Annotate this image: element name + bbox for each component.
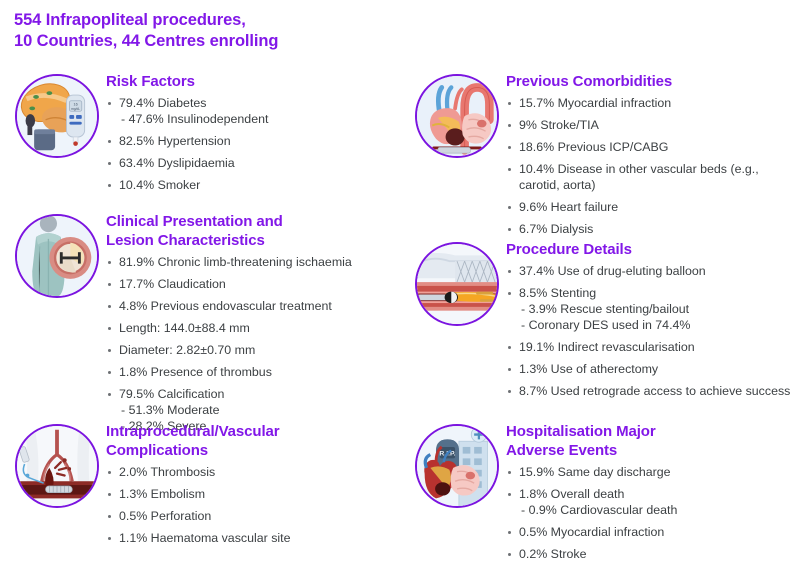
section-heading-line: Risk Factors bbox=[106, 72, 398, 91]
section-bullet-list: 2.0% Thrombosis 1.3% Embolism 0.5% Perfo… bbox=[106, 464, 398, 546]
section-icon-wrapper bbox=[408, 240, 506, 326]
list-item-subtext: - 47.6% Insulinodependent bbox=[119, 111, 398, 127]
list-item: 9.6% Heart failure bbox=[506, 199, 798, 215]
section-risk-factors: 16 mg/dL Risk Factors 79.4% Diabetes - 4… bbox=[8, 72, 398, 199]
section-bullet-list: 81.9% Chronic limb-threatening ischaemia… bbox=[106, 254, 398, 434]
list-item: 81.9% Chronic limb-threatening ischaemia bbox=[106, 254, 398, 270]
section-icon-wrapper bbox=[8, 212, 106, 298]
list-item: 37.4% Use of drug-eluting balloon bbox=[506, 263, 798, 279]
list-item: 79.4% Diabetes - 47.6% Insulinodependent bbox=[106, 95, 398, 127]
list-item-text: 15.7% Myocardial infraction bbox=[519, 96, 671, 110]
section-clinical-presentation: Clinical Presentation and Lesion Charact… bbox=[8, 212, 398, 440]
list-item-text: 9% Stroke/TIA bbox=[519, 118, 599, 132]
hospital-gravestone-heart-brain-icon: R.I.P. bbox=[415, 424, 499, 508]
section-text-column: Risk Factors 79.4% Diabetes - 47.6% Insu… bbox=[106, 72, 398, 199]
vessel-perforation-bleeding-icon bbox=[15, 424, 99, 508]
list-item: 8.5% Stenting - 3.9% Rescue stenting/bai… bbox=[506, 285, 798, 333]
list-item: 1.3% Use of atherectomy bbox=[506, 361, 798, 377]
list-item-subtext: - 51.3% Moderate bbox=[119, 402, 398, 418]
section-heading-line: Intraprocedural/Vascular bbox=[106, 422, 398, 441]
list-item-text: 0.5% Perforation bbox=[119, 509, 211, 523]
section-bullet-list: 15.7% Myocardial infraction 9% Stroke/TI… bbox=[506, 95, 798, 237]
section-heading: Procedure Details bbox=[506, 240, 798, 259]
section-previous-comorbidities: Previous Comorbidities 15.7% Myocardial … bbox=[408, 72, 798, 243]
list-item: 1.3% Embolism bbox=[106, 486, 398, 502]
svg-text:mg/dL: mg/dL bbox=[71, 107, 80, 111]
list-item-text: 1.8% Presence of thrombus bbox=[119, 365, 272, 379]
section-icon-wrapper: R.I.P. bbox=[408, 422, 506, 508]
section-bullet-list: 79.4% Diabetes - 47.6% Insulinodependent… bbox=[106, 95, 398, 193]
section-heading-line: Hospitalisation Major bbox=[506, 422, 798, 441]
section-heading-line: Procedure Details bbox=[506, 240, 798, 259]
list-item: 0.2% Stroke bbox=[506, 546, 798, 562]
list-item-text: 6.7% Dialysis bbox=[519, 222, 593, 236]
section-icon-wrapper: 16 mg/dL bbox=[8, 72, 106, 158]
list-item: 15.9% Same day discharge bbox=[506, 464, 798, 480]
list-item: 82.5% Hypertension bbox=[106, 133, 398, 149]
list-item: Diameter: 2.82±0.70 mm bbox=[106, 342, 398, 358]
section-text-column: Hospitalisation Major Adverse Events 15.… bbox=[506, 422, 798, 568]
list-item: 2.0% Thrombosis bbox=[106, 464, 398, 480]
list-item-subtext: - 0.9% Cardiovascular death bbox=[519, 502, 798, 518]
list-item-text: 0.5% Myocardial infraction bbox=[519, 525, 664, 539]
list-item-text: 1.3% Use of atherectomy bbox=[519, 362, 658, 376]
section-text-column: Procedure Details 37.4% Use of drug-elut… bbox=[506, 240, 798, 405]
list-item: Length: 144.0±88.4 mm bbox=[106, 320, 398, 336]
list-item-text: 17.7% Claudication bbox=[119, 277, 226, 291]
section-heading-line: Previous Comorbidities bbox=[506, 72, 798, 91]
section-heading-line: Adverse Events bbox=[506, 441, 798, 460]
list-item: 1.1% Haematoma vascular site bbox=[106, 530, 398, 546]
list-item-subtext: - Coronary DES used in 74.4% bbox=[519, 317, 798, 333]
list-item-text: 81.9% Chronic limb-threatening ischaemia bbox=[119, 255, 352, 269]
list-item: 9% Stroke/TIA bbox=[506, 117, 798, 133]
list-item: 1.8% Overall death - 0.9% Cardiovascular… bbox=[506, 486, 798, 518]
list-item: 15.7% Myocardial infraction bbox=[506, 95, 798, 111]
list-item: 1.8% Presence of thrombus bbox=[106, 364, 398, 380]
section-heading: Intraprocedural/Vascular Complications bbox=[106, 422, 398, 460]
list-item: 17.7% Claudication bbox=[106, 276, 398, 292]
list-item-text: 63.4% Dyslipidaemia bbox=[119, 156, 235, 170]
list-item-text: 1.3% Embolism bbox=[119, 487, 205, 501]
list-item-text: 9.6% Heart failure bbox=[519, 200, 618, 214]
list-item-text: 10.4% Disease in other vascular beds (e.… bbox=[519, 162, 759, 192]
list-item-text: Diameter: 2.82±0.70 mm bbox=[119, 343, 255, 357]
stent-catheter-vessel-icon bbox=[415, 242, 499, 326]
section-heading: Clinical Presentation and Lesion Charact… bbox=[106, 212, 398, 250]
list-item-text: 8.7% Used retrograde access to achieve s… bbox=[519, 384, 790, 398]
list-item: 8.7% Used retrograde access to achieve s… bbox=[506, 383, 798, 399]
list-item-text: 8.5% Stenting bbox=[519, 286, 596, 300]
heart-aorta-brain-icon bbox=[415, 74, 499, 158]
list-item: 6.7% Dialysis bbox=[506, 221, 798, 237]
list-item: 10.4% Smoker bbox=[106, 177, 398, 193]
section-text-column: Intraprocedural/Vascular Complications 2… bbox=[106, 422, 398, 552]
section-bullet-list: 37.4% Use of drug-eluting balloon 8.5% S… bbox=[506, 263, 798, 399]
list-item-text: 15.9% Same day discharge bbox=[519, 465, 671, 479]
page-title: 554 Infrapopliteal procedures, 10 Countr… bbox=[14, 10, 534, 52]
section-icon-wrapper bbox=[408, 72, 506, 158]
section-heading-line: Lesion Characteristics bbox=[106, 231, 398, 250]
section-icon-wrapper bbox=[8, 422, 106, 508]
section-hospitalisation-major-adverse-events: R.I.P. Hospitalisation Major Adverse Eve… bbox=[408, 422, 798, 568]
section-heading: Risk Factors bbox=[106, 72, 398, 91]
list-item: 0.5% Perforation bbox=[106, 508, 398, 524]
list-item: 0.5% Myocardial infraction bbox=[506, 524, 798, 540]
list-item-text: 18.6% Previous ICP/CABG bbox=[519, 140, 668, 154]
list-item-text: 82.5% Hypertension bbox=[119, 134, 231, 148]
patient-gown-vessel-lesion-icon bbox=[15, 214, 99, 298]
section-bullet-list: 15.9% Same day discharge 1.8% Overall de… bbox=[506, 464, 798, 562]
list-item-text: 4.8% Previous endovascular treatment bbox=[119, 299, 332, 313]
list-item: 19.1% Indirect revascularisation bbox=[506, 339, 798, 355]
section-procedure-details: Procedure Details 37.4% Use of drug-elut… bbox=[408, 240, 798, 405]
list-item-text: 79.4% Diabetes bbox=[119, 96, 206, 110]
list-item: 4.8% Previous endovascular treatment bbox=[106, 298, 398, 314]
list-item-text: Length: 144.0±88.4 mm bbox=[119, 321, 250, 335]
list-item-text: 0.2% Stroke bbox=[519, 547, 587, 561]
list-item-text: 37.4% Use of drug-eluting balloon bbox=[519, 264, 706, 278]
page-title-line-2: 10 Countries, 44 Centres enrolling bbox=[14, 31, 534, 52]
section-text-column: Previous Comorbidities 15.7% Myocardial … bbox=[506, 72, 798, 243]
list-item-text: 2.0% Thrombosis bbox=[119, 465, 215, 479]
glucose-meter-icon: 16 mg/dL bbox=[15, 74, 99, 158]
list-item-text: 19.1% Indirect revascularisation bbox=[519, 340, 695, 354]
section-heading-line: Complications bbox=[106, 441, 398, 460]
list-item-text: 1.8% Overall death bbox=[519, 487, 624, 501]
list-item-text: 79.5% Calcification bbox=[119, 387, 224, 401]
page-title-line-1: 554 Infrapopliteal procedures, bbox=[14, 10, 534, 31]
section-text-column: Clinical Presentation and Lesion Charact… bbox=[106, 212, 398, 440]
list-item: 18.6% Previous ICP/CABG bbox=[506, 139, 798, 155]
section-heading: Hospitalisation Major Adverse Events bbox=[506, 422, 798, 460]
section-heading: Previous Comorbidities bbox=[506, 72, 798, 91]
list-item: 63.4% Dyslipidaemia bbox=[106, 155, 398, 171]
list-item: 10.4% Disease in other vascular beds (e.… bbox=[506, 161, 798, 193]
list-item-text: 1.1% Haematoma vascular site bbox=[119, 531, 290, 545]
section-heading-line: Clinical Presentation and bbox=[106, 212, 398, 231]
list-item-text: 10.4% Smoker bbox=[119, 178, 200, 192]
section-intraprocedural-complications: Intraprocedural/Vascular Complications 2… bbox=[8, 422, 398, 552]
list-item-subtext: - 3.9% Rescue stenting/bailout bbox=[519, 301, 798, 317]
